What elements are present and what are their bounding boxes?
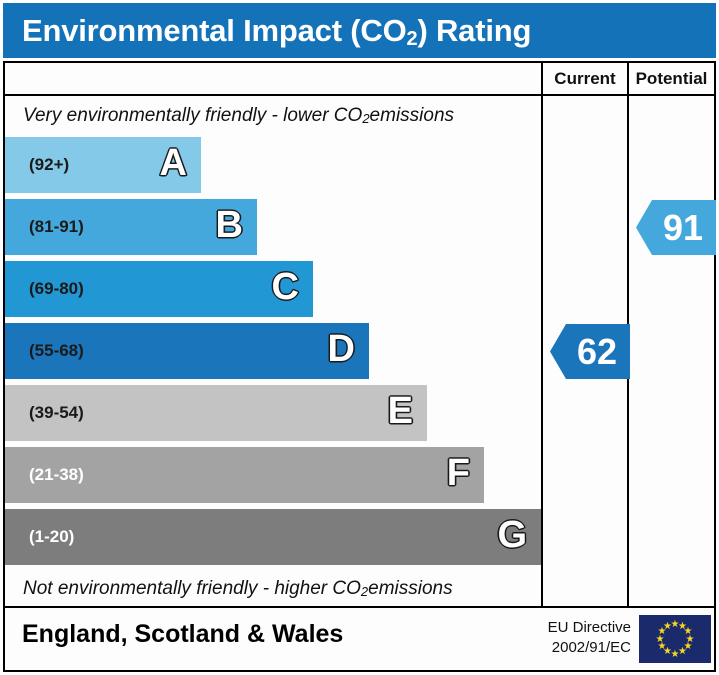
band-range-a: (92+) [5, 155, 69, 175]
caption-top: Very environmentally friendly - lower CO… [5, 98, 541, 133]
caption-bottom-prefix: Not environmentally friendly - higher CO [23, 578, 361, 600]
band-range-b: (81-91) [5, 217, 84, 237]
caption-bottom-subscript: 2 [361, 584, 368, 599]
footer: England, Scotland & Wales EU Directive 2… [5, 606, 714, 670]
eu-flag-icon: ★★★★★★★★★★★★ [639, 615, 711, 663]
rating-arrow-potential: 91 [636, 200, 716, 255]
band-letter-a: A [160, 144, 187, 182]
footer-directive-line2: 2002/91/EC [521, 638, 631, 658]
footer-region-label: England, Scotland & Wales [22, 620, 343, 649]
band-range-g: (1-20) [5, 527, 74, 547]
chart-title-bar: Environmental Impact (CO2) Rating [3, 3, 716, 58]
band-range-f: (21-38) [5, 465, 84, 485]
rating-arrow-current: 62 [550, 324, 630, 379]
band-letter-c: C [272, 268, 299, 306]
eu-flag-star: ★ [663, 622, 672, 631]
column-header-current: Current [541, 63, 627, 94]
caption-top-suffix: emissions [370, 105, 454, 127]
band-letter-b: B [216, 206, 243, 244]
band-row-a: (92+)A [5, 137, 201, 193]
band-letter-d: D [328, 330, 355, 368]
caption-top-subscript: 2 [362, 111, 369, 126]
band-row-c: (69-80)C [5, 261, 313, 317]
band-list: (92+)A(81-91)B(69-80)C(55-68)D(39-54)E(2… [5, 137, 541, 571]
band-row-d: (55-68)D [5, 323, 369, 379]
band-range-e: (39-54) [5, 403, 84, 423]
page-title-subscript: 2 [407, 28, 418, 50]
band-row-g: (1-20)G [5, 509, 541, 565]
column-header-potential: Potential [627, 63, 714, 94]
footer-directive-line1: EU Directive [521, 618, 631, 638]
band-row-b: (81-91)B [5, 199, 257, 255]
band-row-f: (21-38)F [5, 447, 484, 503]
caption-bottom: Not environmentally friendly - higher CO… [5, 571, 541, 606]
column-header-row: Current Potential [5, 63, 714, 96]
column-divider-current [541, 96, 543, 606]
band-range-d: (55-68) [5, 341, 84, 361]
caption-bottom-suffix: emissions [368, 578, 452, 600]
page-title: Environmental Impact (CO2) Rating [3, 13, 531, 49]
epc-environmental-impact-certificate: Environmental Impact (CO2) Rating Curren… [0, 0, 719, 675]
band-letter-f: F [447, 454, 470, 492]
band-range-c: (69-80) [5, 279, 84, 299]
band-letter-g: G [497, 516, 527, 554]
rating-grid: Current Potential Very environmentally f… [3, 61, 716, 672]
rating-value-potential: 91 [649, 210, 703, 246]
band-row-e: (39-54)E [5, 385, 427, 441]
page-title-prefix: Environmental Impact (CO [22, 13, 407, 48]
page-title-suffix: ) Rating [417, 13, 531, 48]
band-letter-e: E [388, 392, 413, 430]
caption-top-prefix: Very environmentally friendly - lower CO [23, 105, 362, 127]
footer-directive: EU Directive 2002/91/EC [521, 618, 631, 659]
rating-value-current: 62 [563, 334, 617, 370]
